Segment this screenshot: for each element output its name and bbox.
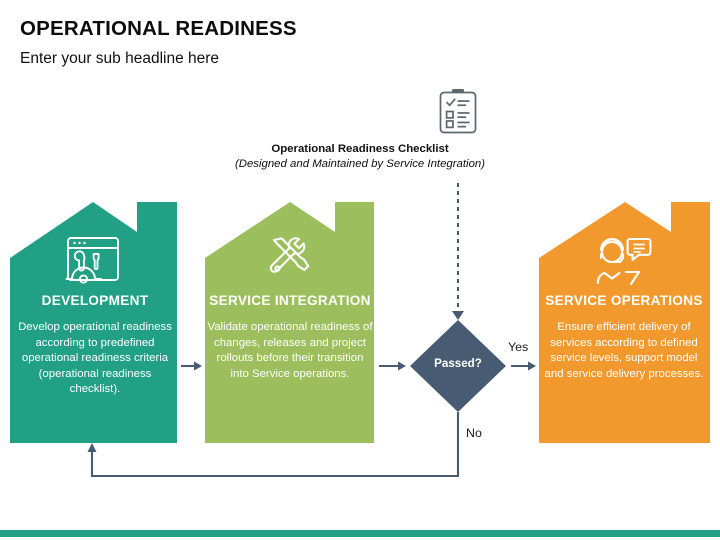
stage-body-development: Develop operational readiness according …	[12, 320, 178, 398]
edge-label-no: No	[466, 426, 482, 440]
decision-label: Passed?	[408, 357, 508, 370]
stage-label-service-integration: SERVICE INTEGRATION	[200, 293, 380, 308]
process-flow-diagram	[0, 0, 720, 540]
arrowhead-1	[194, 362, 202, 371]
arrowhead-feedback	[88, 443, 97, 452]
stage-label-development: DEVELOPMENT	[10, 293, 180, 308]
footer-accent-bar	[0, 530, 720, 537]
arrowhead-3	[528, 362, 536, 371]
edge-label-yes: Yes	[508, 340, 528, 354]
stage-body-service-integration: Validate operational readiness of change…	[207, 320, 373, 382]
stage-body-service-operations: Ensure efficient delivery of services ac…	[540, 320, 708, 382]
arrowhead-2	[398, 362, 406, 371]
slide-canvas: OPERATIONAL READINESS Enter your sub hea…	[0, 0, 720, 540]
dashed-connector-arrowhead	[452, 311, 464, 320]
stage-label-service-operations: SERVICE OPERATIONS	[534, 293, 714, 308]
